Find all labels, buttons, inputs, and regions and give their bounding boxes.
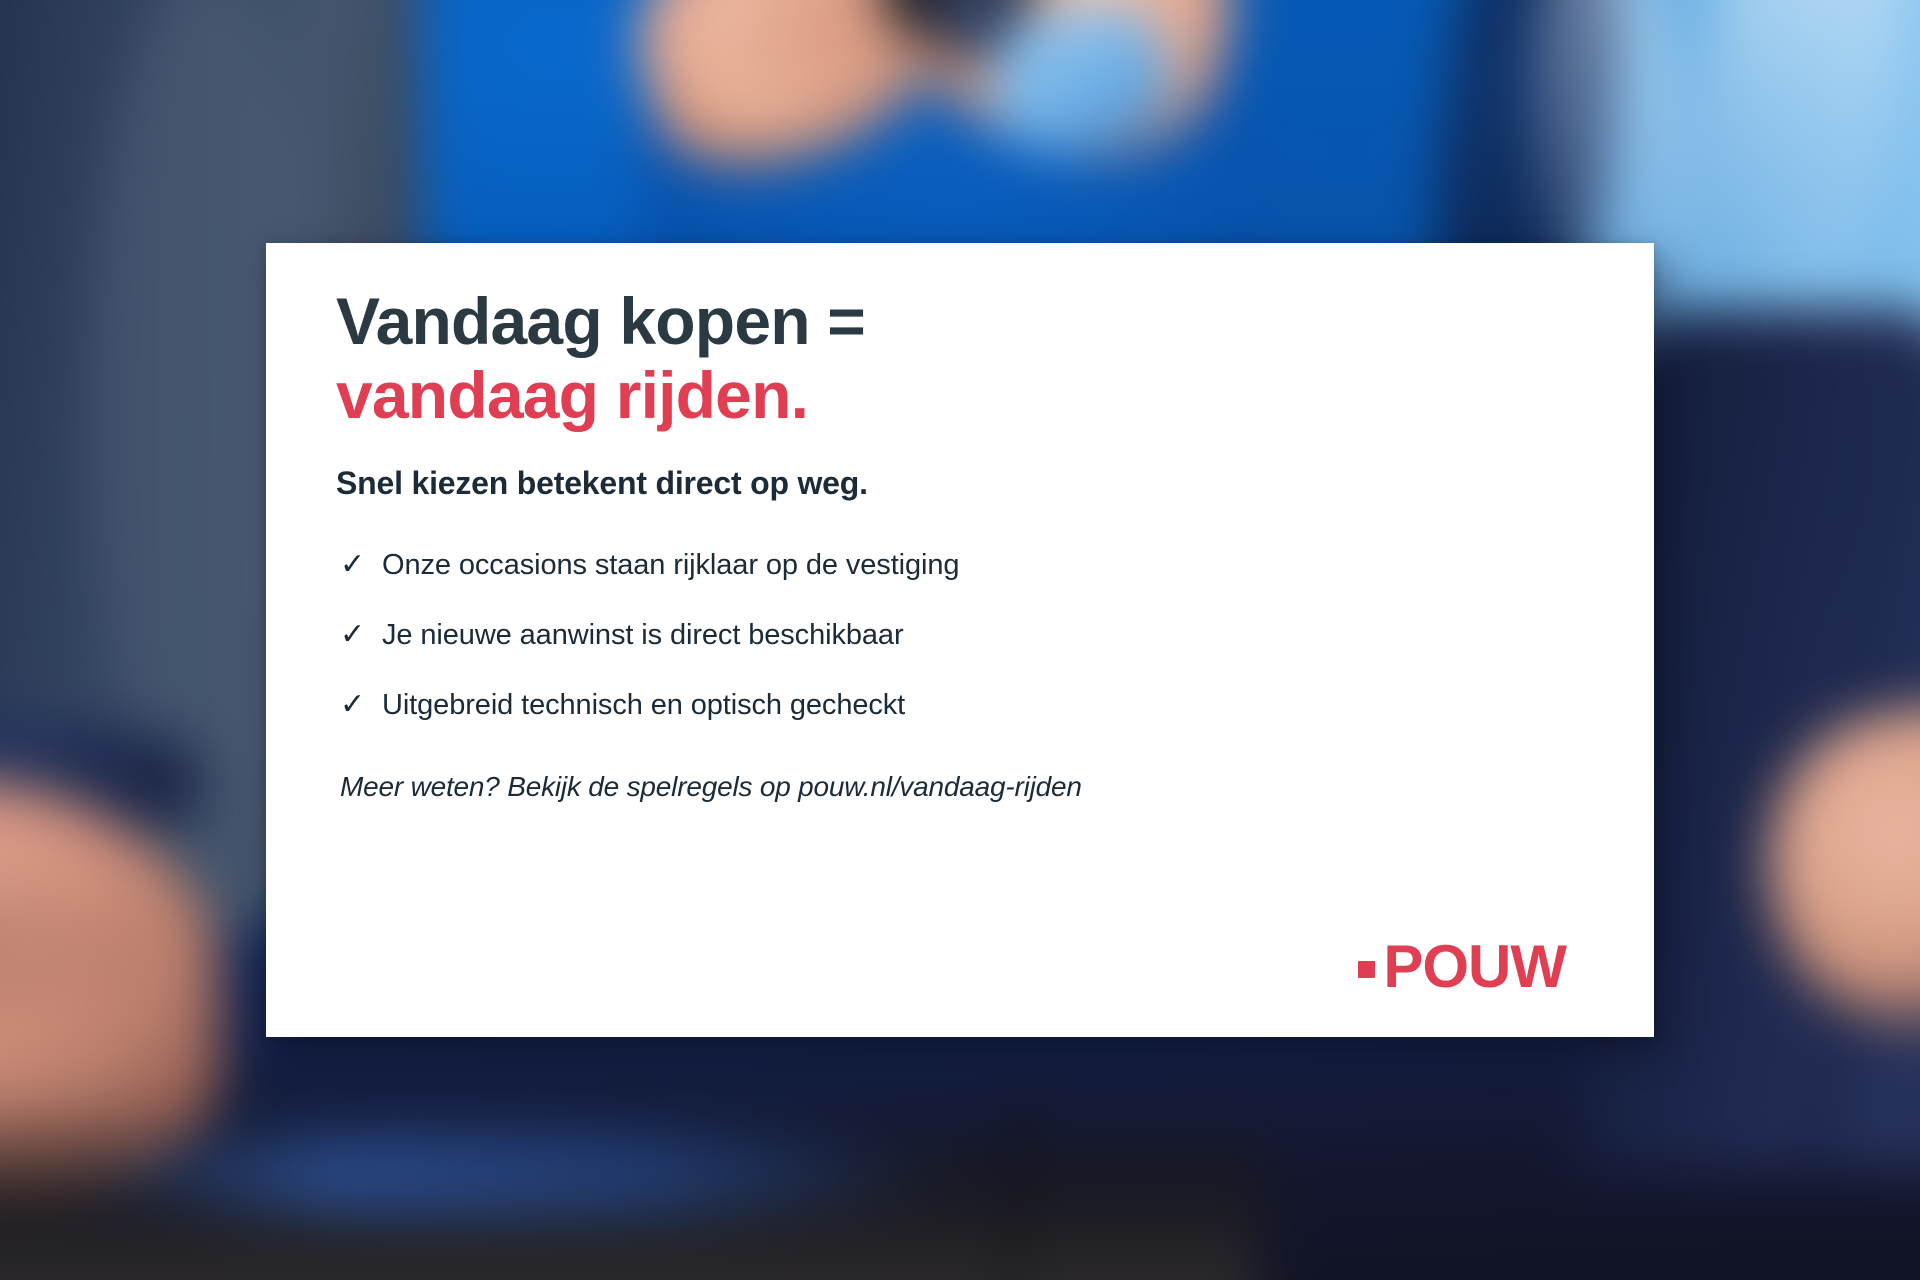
page-title: Vandaag kopen = vandaag rijden. — [336, 285, 865, 433]
benefits-list: ✓ Onze occasions staan rijklaar op de ve… — [340, 549, 959, 759]
logo-wordmark: POUW — [1383, 937, 1566, 997]
content-card: Vandaag kopen = vandaag rijden. Snel kie… — [266, 243, 1654, 1037]
background-floor-reflection — [60, 1130, 960, 1220]
list-item-label: Uitgebreid technisch en optisch gecheckt — [382, 689, 905, 722]
list-item: ✓ Onze occasions staan rijklaar op de ve… — [340, 549, 959, 619]
check-icon: ✓ — [340, 690, 364, 720]
list-item: ✓ Uitgebreid technisch en optisch gechec… — [340, 689, 959, 759]
card-inner: Vandaag kopen = vandaag rijden. Snel kie… — [336, 243, 1596, 1037]
list-item-label: Je nieuwe aanwinst is direct beschikbaar — [382, 619, 904, 652]
promo-banner: Vandaag kopen = vandaag rijden. Snel kie… — [0, 0, 1920, 1280]
footnote-link[interactable]: Meer weten? Bekijk de spelregels op pouw… — [340, 771, 1082, 803]
headline-line-2: vandaag rijden. — [336, 359, 865, 433]
pouw-logo[interactable]: POUW — [1358, 937, 1566, 997]
list-item: ✓ Je nieuwe aanwinst is direct beschikba… — [340, 619, 959, 689]
headline-line-1: Vandaag kopen = — [336, 285, 865, 359]
check-icon: ✓ — [340, 620, 364, 650]
logo-dot-icon — [1358, 961, 1375, 978]
list-item-label: Onze occasions staan rijklaar op de vest… — [382, 549, 959, 582]
check-icon: ✓ — [340, 550, 364, 580]
subheading: Snel kiezen betekent direct op weg. — [336, 465, 868, 502]
